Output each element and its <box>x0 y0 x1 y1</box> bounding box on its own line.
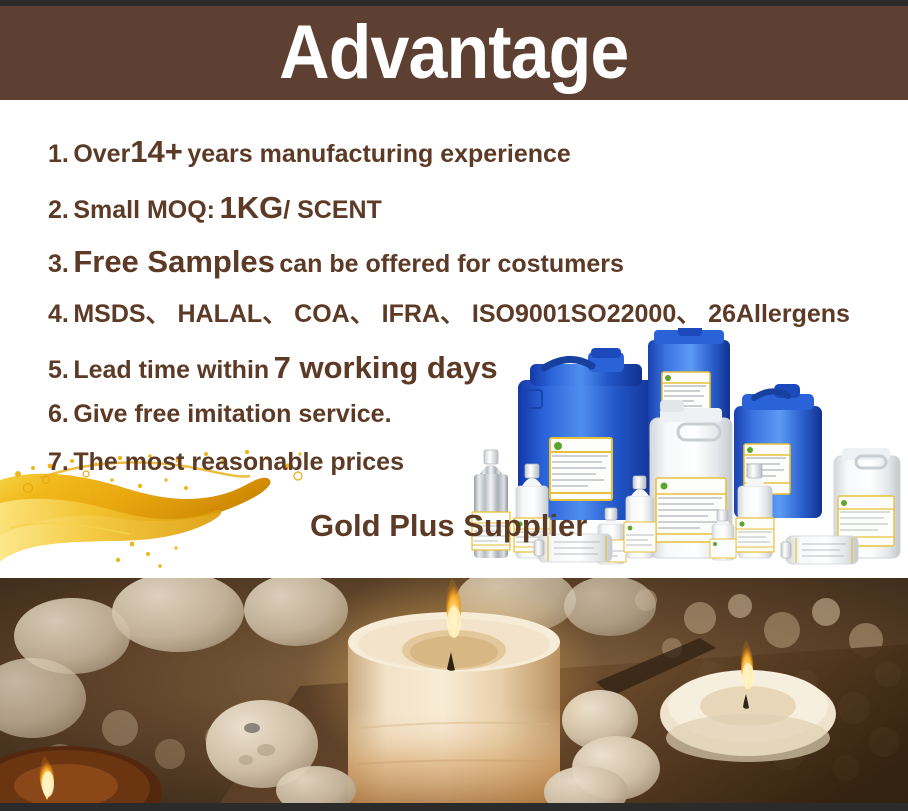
advantage-item-5-number: 5. <box>48 356 69 384</box>
white-bottle-lying-right <box>781 536 858 564</box>
advantage-item-5-highlight: 7 working days <box>274 350 498 385</box>
advantage-item-3-number: 3. <box>48 250 69 278</box>
advantage-item-4-number: 4. <box>48 300 69 328</box>
advantage-item-1-highlight: 14+ <box>130 134 183 169</box>
white-bottle-medium <box>624 476 656 558</box>
advantage-item-2: 2. Small MOQ: 1KG/ SCENT <box>48 192 382 223</box>
blue-drum-tall <box>648 328 730 452</box>
advantage-item-2-highlight: 1KG <box>219 190 283 225</box>
advantage-item-3: 3. Free Samples can be offered for costu… <box>48 246 624 277</box>
white-bottle-tiny <box>710 510 736 560</box>
advantage-item-5: 5. Lead time within 7 working days <box>48 352 498 383</box>
advantage-item-2-number: 2. <box>48 196 69 224</box>
advantage-item-1-text-b: years manufacturing experience <box>187 140 571 168</box>
advantage-item-7-text: The most reasonable prices <box>73 448 404 476</box>
bottom-divider-strip <box>0 803 908 811</box>
white-bottle-right-a <box>736 464 774 558</box>
advantage-item-6-text: Give free imitation service. <box>73 400 391 428</box>
advantage-item-4: 4. MSDS、 HALAL、 COA、 IFRA、 ISO9001SO2200… <box>48 302 850 327</box>
advantage-item-7: 7. The most reasonable prices <box>48 450 404 475</box>
advantage-item-3-text: can be offered for costumers <box>279 250 624 278</box>
advantage-header-banner: Advantage <box>0 6 908 100</box>
candles-photo <box>0 578 908 803</box>
white-jerrycan <box>650 400 732 558</box>
advantage-banner-page: Advantage <box>0 0 908 811</box>
white-bottle-small <box>596 508 626 564</box>
white-jerrycan-right <box>834 448 900 558</box>
advantage-item-1: 1. Over14+ years manufacturing experienc… <box>48 136 571 167</box>
advantage-item-7-number: 7. <box>48 448 69 476</box>
advantage-item-6: 6. Give free imitation service. <box>48 402 392 427</box>
gold-plus-supplier-label: Gold Plus Supplier <box>310 508 587 544</box>
page-title: Advantage <box>279 15 628 91</box>
advantage-item-5-text: Lead time within <box>73 356 269 384</box>
blue-drum-right <box>734 384 822 518</box>
advantage-item-2-text-b: / SCENT <box>283 196 382 224</box>
advantage-content-area: 1. Over14+ years manufacturing experienc… <box>0 100 908 578</box>
advantage-item-6-number: 6. <box>48 400 69 428</box>
advantage-item-1-number: 1. <box>48 140 69 168</box>
advantage-item-3-highlight: Free Samples <box>73 244 275 279</box>
advantage-item-1-text-a: Over <box>73 140 130 168</box>
advantage-item-2-text-a: Small MOQ: <box>73 196 215 224</box>
advantage-item-4-text: MSDS、 HALAL、 COA、 IFRA、 ISO9001SO22000、 … <box>73 300 850 328</box>
blue-drum-large <box>518 348 658 520</box>
